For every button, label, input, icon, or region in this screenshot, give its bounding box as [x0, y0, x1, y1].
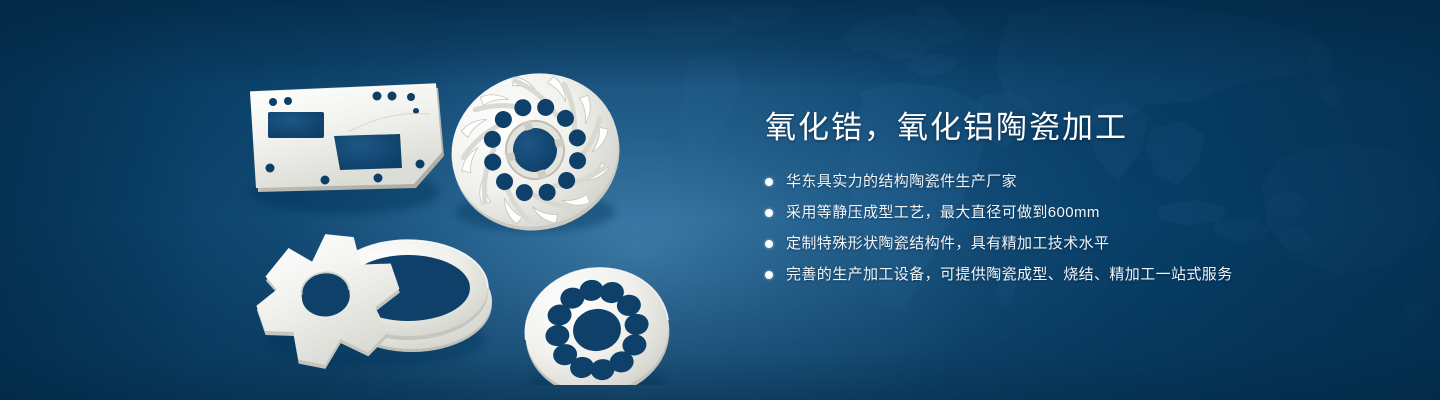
hero-banner: 氧化锆，氧化铝陶瓷加工 华东具实力的结构陶瓷件生产厂家 采用等静压成型工艺，最大…: [0, 0, 1440, 400]
feature-text: 定制特殊形状陶瓷结构件，具有精加工技术水平: [786, 232, 1109, 255]
feature-text: 华东具实力的结构陶瓷件生产厂家: [786, 170, 1017, 193]
feature-text: 完善的生产加工设备，可提供陶瓷成型、烧结、精加工一站式服务: [786, 263, 1233, 286]
bullet-dot-icon: [765, 209, 773, 217]
ceramic-hole-disc-photo: [517, 259, 677, 385]
bullet-dot-icon: [765, 271, 773, 279]
list-item: 采用等静压成型工艺，最大直径可做到600mm: [765, 201, 1385, 224]
ceramic-plate-photo: [250, 84, 444, 214]
bullet-dot-icon: [765, 240, 773, 248]
feature-list: 华东具实力的结构陶瓷件生产厂家 采用等静压成型工艺，最大直径可做到600mm 定…: [765, 170, 1385, 286]
list-item: 华东具实力的结构陶瓷件生产厂家: [765, 170, 1385, 193]
ceramic-impeller-photo: [433, 54, 637, 250]
bullet-dot-icon: [765, 178, 773, 186]
list-item: 完善的生产加工设备，可提供陶瓷成型、烧结、精加工一站式服务: [765, 263, 1385, 286]
list-item: 定制特殊形状陶瓷结构件，具有精加工技术水平: [765, 232, 1385, 255]
product-photo-collage: [230, 40, 730, 385]
ceramic-cross-and-rings-photo: [250, 227, 492, 375]
banner-text-block: 氧化锆，氧化铝陶瓷加工 华东具实力的结构陶瓷件生产厂家 采用等静压成型工艺，最大…: [765, 108, 1385, 294]
page-title: 氧化锆，氧化铝陶瓷加工: [765, 108, 1385, 148]
feature-text: 采用等静压成型工艺，最大直径可做到600mm: [786, 201, 1100, 224]
